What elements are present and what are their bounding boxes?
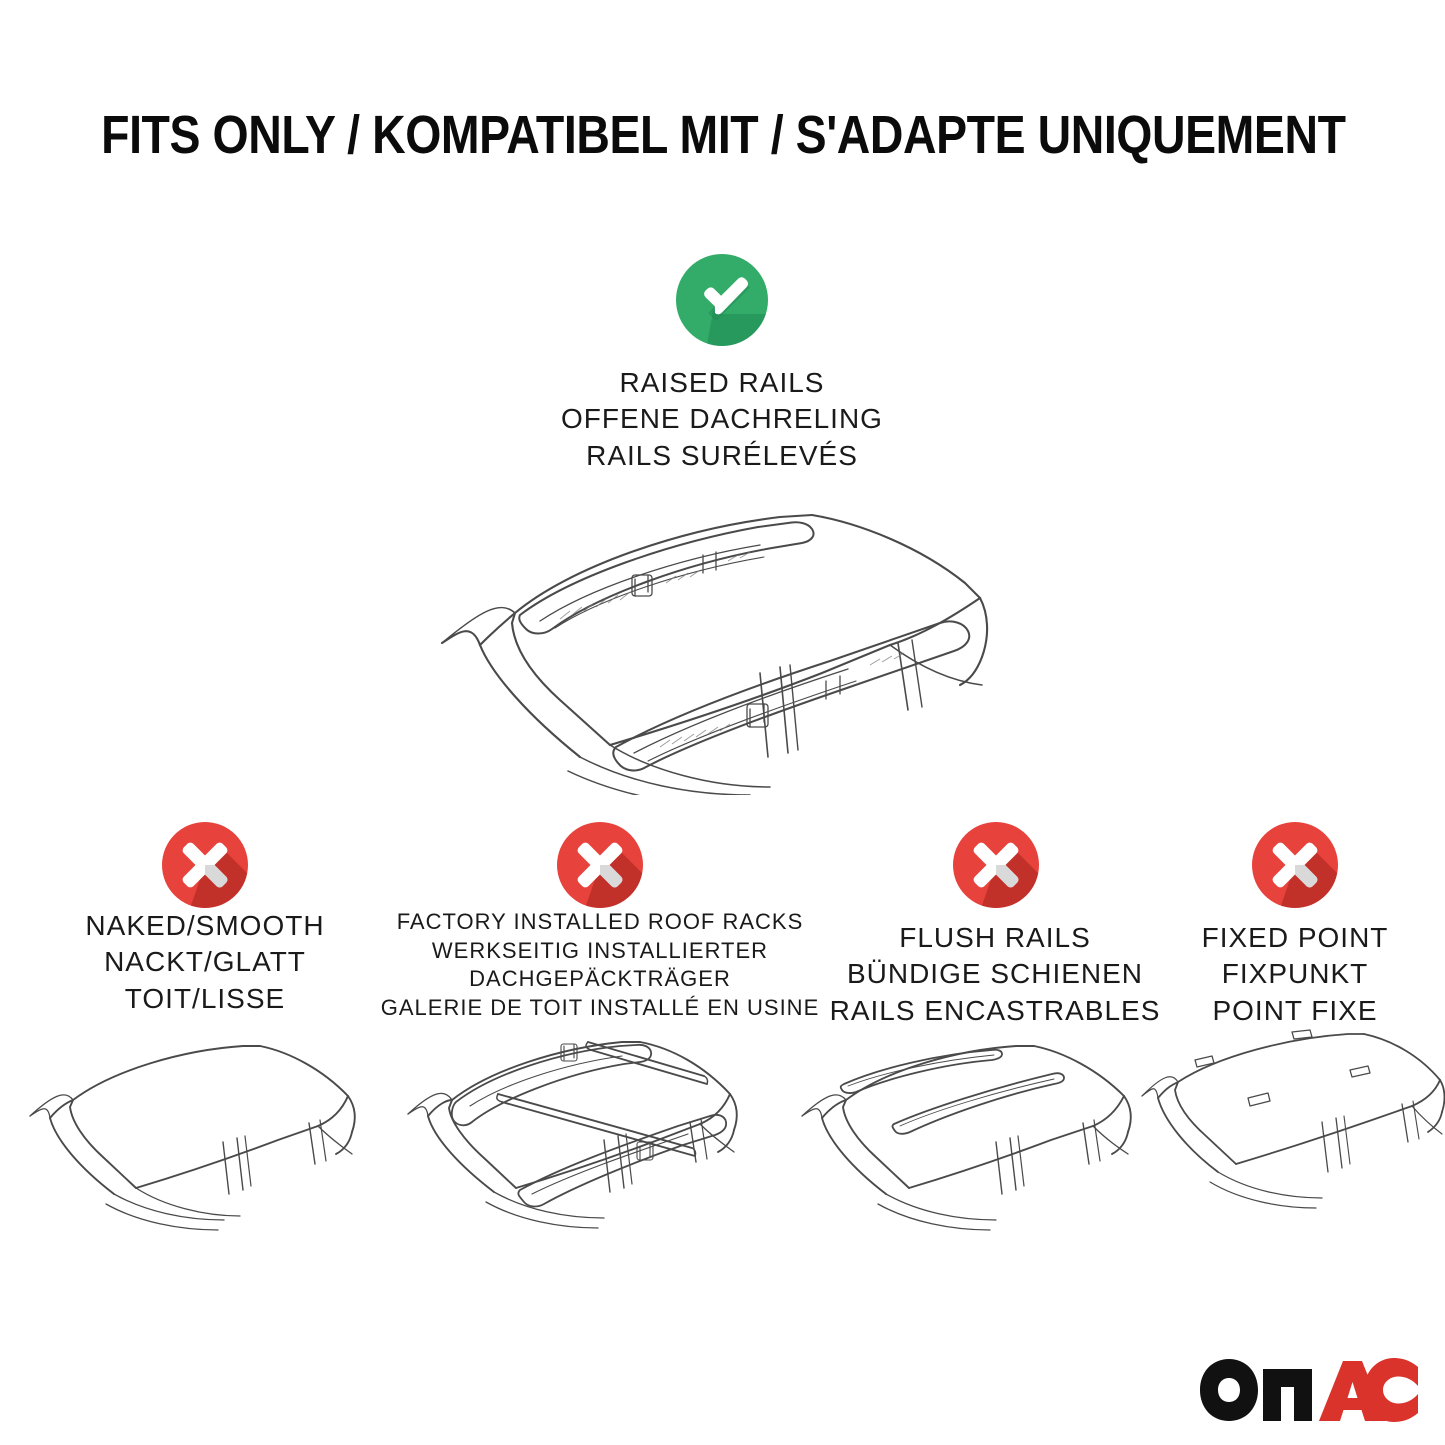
factory-racks-line-en: FACTORY INSTALLED ROOF RACKS <box>370 908 830 937</box>
car-roof-naked-smooth-illustration <box>18 1022 368 1232</box>
x-circle-icon-fixed-point <box>1252 822 1338 908</box>
naked-smooth-line-en: NAKED/SMOOTH <box>35 908 375 944</box>
factory-racks-line-de-2: DACHGEPÄCKTRÄGER <box>370 965 830 994</box>
flush-rails-label: FLUSH RAILS BÜNDIGE SCHIENEN RAILS ENCAS… <box>825 920 1165 1029</box>
omac-logo <box>1193 1355 1425 1425</box>
car-roof-fixed-point-illustration <box>1140 1022 1445 1232</box>
car-roof-flush-rails-illustration <box>788 1022 1148 1232</box>
car-roof-raised-rails-illustration <box>420 495 1020 795</box>
logo-letter-m <box>1263 1369 1312 1421</box>
naked-smooth-line-de: NACKT/GLATT <box>35 944 375 980</box>
compatible-label: RAISED RAILS OFFENE DACHRELING RAILS SUR… <box>422 365 1022 474</box>
check-circle-icon <box>676 254 768 346</box>
fixed-point-line-en: FIXED POINT <box>1155 920 1435 956</box>
x-circle-icon-flush-rails <box>953 822 1039 908</box>
fixed-point-line-de: FIXPUNKT <box>1155 956 1435 992</box>
x-circle-icon-naked-smooth <box>162 822 248 908</box>
naked-smooth-line-fr: TOIT/LISSE <box>35 981 375 1017</box>
factory-racks-label: FACTORY INSTALLED ROOF RACKS WERKSEITIG … <box>370 908 830 1022</box>
flush-rails-line-de: BÜNDIGE SCHIENEN <box>825 956 1165 992</box>
fitment-diagram: FITS ONLY / KOMPATIBEL MIT / S'ADAPTE UN… <box>0 0 1445 1445</box>
compatible-line-en: RAISED RAILS <box>422 365 1022 401</box>
page-title: FITS ONLY / KOMPATIBEL MIT / S'ADAPTE UN… <box>101 104 1344 166</box>
compatible-line-de: OFFENE DACHRELING <box>422 401 1022 437</box>
logo-letter-o <box>1200 1359 1258 1421</box>
flush-rails-line-en: FLUSH RAILS <box>825 920 1165 956</box>
car-roof-factory-racks-illustration <box>392 1012 772 1232</box>
compatible-line-fr: RAILS SURÉLEVÉS <box>422 438 1022 474</box>
factory-racks-line-de-1: WERKSEITIG INSTALLIERTER <box>370 937 830 966</box>
fixed-point-label: FIXED POINT FIXPUNKT POINT FIXE <box>1155 920 1435 1029</box>
x-circle-icon-factory-racks <box>557 822 643 908</box>
naked-smooth-label: NAKED/SMOOTH NACKT/GLATT TOIT/LISSE <box>35 908 375 1017</box>
